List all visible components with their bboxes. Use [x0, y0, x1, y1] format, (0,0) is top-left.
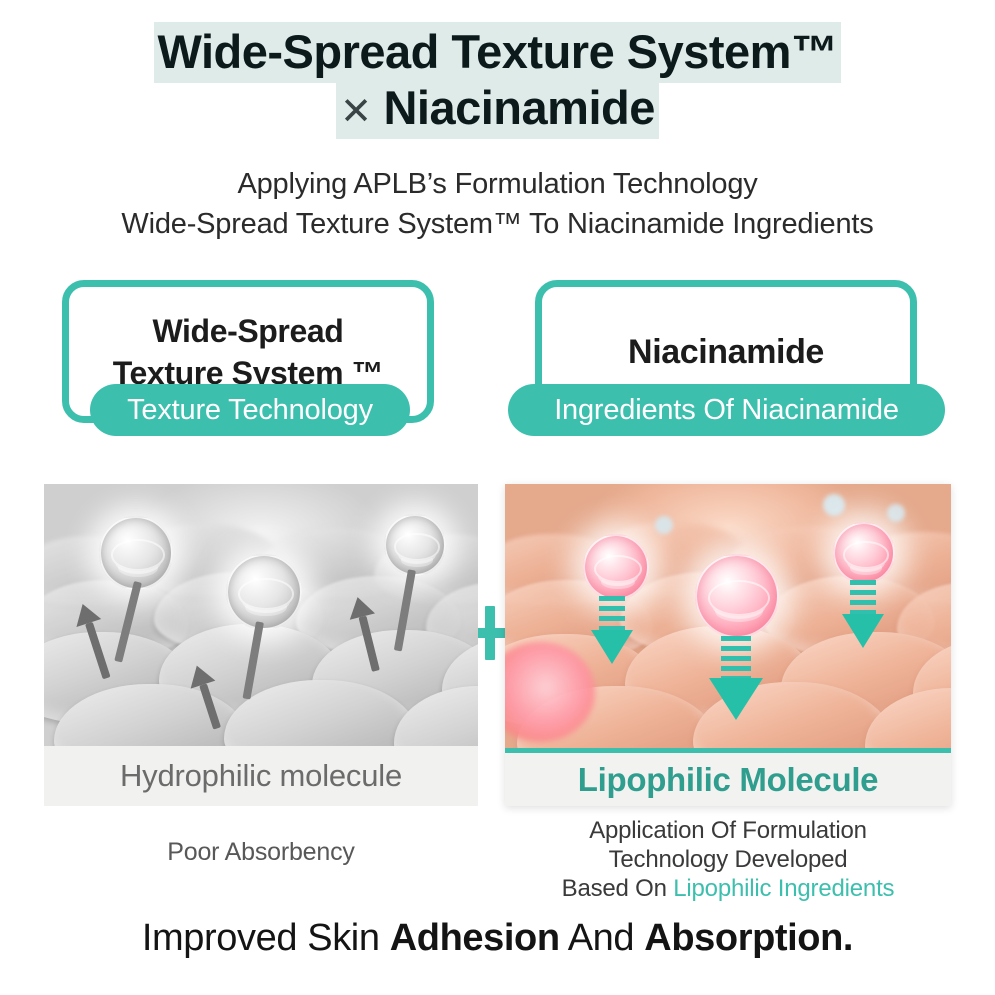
cross-icon: ✕ [340, 91, 383, 133]
droplet-left-2 [226, 554, 302, 630]
badge-right-pill: Ingredients Of Niacinamide [508, 384, 945, 436]
panel-right-subcaption: Application Of Formulation Technology De… [505, 816, 951, 903]
title-line-2: ✕Niacinamide [0, 82, 995, 138]
footer-statement: Improved Skin Adhesion And Absorption. [0, 917, 995, 960]
title-line-2-text: Niacinamide [383, 81, 654, 134]
footer-bold-absorption: Absorption. [644, 917, 853, 959]
panel-right-image [505, 484, 951, 748]
droplet-right-1 [583, 534, 649, 600]
droplet-right-3 [833, 522, 895, 584]
droplet-left-3 [384, 514, 446, 576]
subtitle-line-2: Wide-Spread Texture System™ To Niacinami… [0, 204, 995, 244]
panel-hydrophilic: Hydrophilic molecule [44, 484, 478, 806]
panel-lipophilic: Lipophilic Molecule [505, 484, 951, 806]
badge-right-title: Niacinamide [628, 330, 824, 374]
panel-left-subcaption: Poor Absorbency [44, 838, 478, 867]
panel-left-caption: Hydrophilic molecule [44, 746, 478, 806]
badge-texture-technology: Wide-Spread Texture System ™ Texture Tec… [62, 280, 434, 440]
panel-left-image [44, 484, 478, 746]
right-subcaption-line-3: Based On Lipophilic Ingredients [505, 874, 951, 903]
infographic-root: Wide-Spread Texture System™ ✕Niacinamide… [0, 0, 995, 995]
footer-bold-adhesion: Adhesion [390, 917, 560, 959]
badge-left-title: Wide-Spread Texture System ™ [113, 310, 383, 394]
page-title: Wide-Spread Texture System™ ✕Niacinamide [0, 26, 995, 138]
badge-left-pill: Texture Technology [90, 384, 410, 436]
absorb-arrow-1 [584, 596, 640, 674]
title-line-1-text: Wide-Spread Texture System™ [154, 22, 842, 83]
droplet-right-2 [695, 554, 779, 638]
badge-niacinamide: Niacinamide Ingredients Of Niacinamide [535, 280, 917, 440]
right-subcaption-highlight: Lipophilic Ingredients [673, 875, 894, 902]
droplet-left-1 [99, 516, 173, 590]
footer-prefix: Improved Skin [142, 917, 390, 959]
badge-left-title-line-1: Wide-Spread [113, 310, 383, 352]
right-subcaption-line-1: Application Of Formulation [505, 816, 951, 845]
right-subcaption-line-2: Technology Developed [505, 845, 951, 874]
title-line-1: Wide-Spread Texture System™ [0, 26, 995, 78]
subtitle-line-1: Applying APLB’s Formulation Technology [0, 164, 995, 204]
footer-middle: And [560, 917, 645, 959]
absorb-arrow-3 [835, 580, 891, 658]
panel-right-caption: Lipophilic Molecule [505, 748, 951, 806]
badge-row: Wide-Spread Texture System ™ Texture Tec… [0, 280, 995, 470]
absorb-arrow-2 [703, 636, 769, 726]
right-subcaption-line-3-prefix: Based On [562, 875, 674, 902]
subtitle: Applying APLB’s Formulation Technology W… [0, 164, 995, 244]
